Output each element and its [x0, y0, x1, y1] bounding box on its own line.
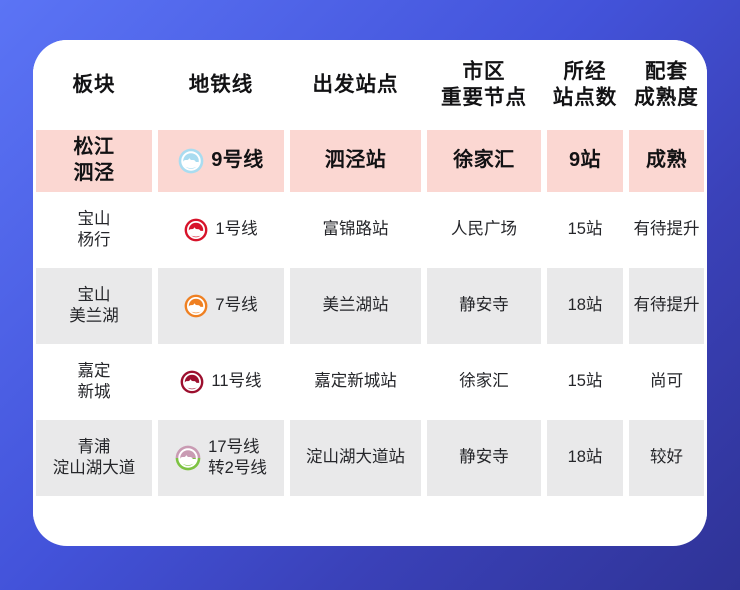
- cell-city-node: 静安寺: [424, 420, 544, 496]
- column-header-maturity: 配套 成熟度: [626, 40, 707, 130]
- metro-line-label: 7号线: [215, 295, 257, 316]
- shanghai-metro-logo-icon: [184, 294, 208, 318]
- metro-line-label: 1号线: [215, 219, 257, 240]
- table-row[interactable]: 宝山 杨行 1号线 富锦路站 人民广场 15站 有待提升: [33, 192, 707, 268]
- cell-departure-station: 美兰湖站: [287, 268, 424, 344]
- cell-stop-count: 18站: [544, 420, 626, 496]
- cell-stop-count: 9站: [544, 130, 626, 192]
- header-label: 所经 站点数: [553, 59, 618, 111]
- table-row[interactable]: 青浦 淀山湖大道 17号线 转2号线 淀山湖: [33, 420, 707, 496]
- column-header-station: 出发站点: [287, 40, 424, 130]
- cell-maturity: 有待提升: [626, 268, 707, 344]
- cell-city-node: 静安寺: [424, 268, 544, 344]
- comparison-card: 板块 地铁线 出发站点 市区 重要节点 所经 站点数 配套 成熟度 松江 泗泾 …: [33, 40, 707, 546]
- cell-departure-station: 泗泾站: [287, 130, 424, 192]
- table-row[interactable]: 松江 泗泾 9号线 泗泾站 徐家汇 9站 成熟: [33, 130, 707, 192]
- shanghai-metro-logo-icon: [184, 218, 208, 242]
- cell-stop-count: 18站: [544, 268, 626, 344]
- metro-line-label: 9号线: [211, 148, 264, 174]
- cell-district: 宝山 杨行: [33, 192, 155, 268]
- shanghai-metro-logo-icon: [178, 148, 204, 174]
- cell-departure-station: 嘉定新城站: [287, 344, 424, 420]
- card-bottom-padding: [33, 496, 707, 520]
- cell-maturity: 成熟: [626, 130, 707, 192]
- cell-district: 青浦 淀山湖大道: [33, 420, 155, 496]
- cell-stop-count: 15站: [544, 344, 626, 420]
- header-label: 地铁线: [189, 72, 254, 98]
- cell-city-node: 徐家汇: [424, 130, 544, 192]
- cell-departure-station: 富锦路站: [287, 192, 424, 268]
- cell-maturity: 有待提升: [626, 192, 707, 268]
- cell-metro-line: 9号线: [155, 130, 287, 192]
- cell-district: 宝山 美兰湖: [33, 268, 155, 344]
- header-label: 板块: [73, 72, 116, 98]
- cell-stop-count: 15站: [544, 192, 626, 268]
- cell-maturity: 较好: [626, 420, 707, 496]
- shanghai-metro-logo-transfer-icon: [175, 445, 201, 471]
- metro-line-label: 11号线: [211, 371, 261, 392]
- cell-metro-line: 17号线 转2号线: [155, 420, 287, 496]
- metro-comparison-table: 板块 地铁线 出发站点 市区 重要节点 所经 站点数 配套 成熟度 松江 泗泾 …: [33, 40, 707, 546]
- cell-departure-station: 淀山湖大道站: [287, 420, 424, 496]
- header-label: 出发站点: [313, 72, 399, 98]
- cell-city-node: 人民广场: [424, 192, 544, 268]
- column-header-stop-count: 所经 站点数: [544, 40, 626, 130]
- header-label: 市区 重要节点: [441, 59, 527, 111]
- cell-metro-line: 1号线: [155, 192, 287, 268]
- table-row[interactable]: 宝山 美兰湖 7号线 美兰湖站 静安寺 18站 有待提升: [33, 268, 707, 344]
- cell-district: 嘉定 新城: [33, 344, 155, 420]
- cell-city-node: 徐家汇: [424, 344, 544, 420]
- column-header-district: 板块: [33, 40, 155, 130]
- header-label: 配套 成熟度: [634, 59, 699, 111]
- column-header-metro-line: 地铁线: [155, 40, 287, 130]
- table-header-row: 板块 地铁线 出发站点 市区 重要节点 所经 站点数 配套 成熟度: [33, 40, 707, 130]
- table-row[interactable]: 嘉定 新城 11号线 嘉定新城站 徐家汇 15站 尚可: [33, 344, 707, 420]
- shanghai-metro-logo-icon: [180, 370, 204, 394]
- cell-metro-line: 7号线: [155, 268, 287, 344]
- column-header-city-node: 市区 重要节点: [424, 40, 544, 130]
- cell-metro-line: 11号线: [155, 344, 287, 420]
- metro-line-label: 17号线 转2号线: [208, 437, 267, 479]
- cell-district: 松江 泗泾: [33, 130, 155, 192]
- cell-maturity: 尚可: [626, 344, 707, 420]
